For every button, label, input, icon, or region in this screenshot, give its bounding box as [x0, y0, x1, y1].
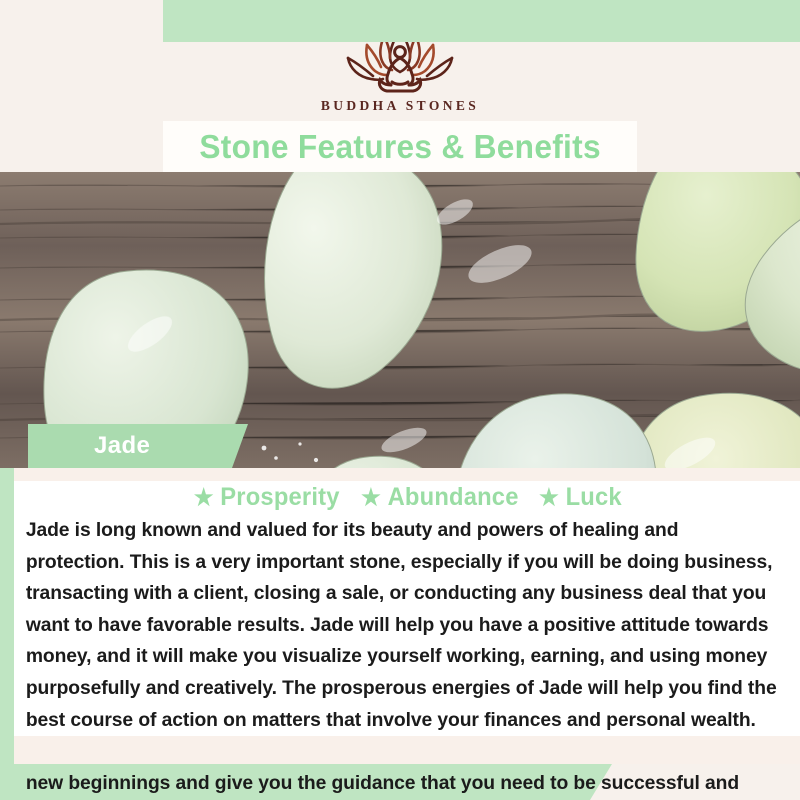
star-icon: ★	[194, 486, 214, 509]
benefit-label: Luck	[566, 483, 622, 512]
benefit-item: ★ Prosperity	[194, 483, 340, 512]
stone-name-badge: Jade	[28, 424, 248, 468]
brand-name: BUDDHA STONES	[0, 98, 800, 114]
decor-green-left-lower	[0, 455, 14, 785]
benefit-item: ★ Abundance	[362, 483, 519, 512]
description-block: Jade is long known and valued for its be…	[14, 511, 800, 764]
benefit-label: Abundance	[388, 483, 519, 512]
page-title: Stone Features & Benefits	[199, 128, 601, 166]
stone-photo	[0, 172, 800, 468]
title-banner: Stone Features & Benefits	[163, 121, 637, 172]
stone-name-label: Jade	[94, 432, 150, 460]
description-bottom-strip	[14, 736, 800, 764]
star-icon: ★	[362, 486, 382, 509]
stone-photo-image	[0, 172, 800, 468]
benefit-item: ★ Luck	[539, 483, 622, 512]
benefit-label: Prosperity	[220, 483, 339, 512]
stone-info-poster: BUDDHA STONES Stone Features & Benefits	[0, 0, 800, 800]
star-icon: ★	[539, 486, 559, 509]
decor-green-top-right	[145, 0, 800, 42]
benefits-row: ★ Prosperity ★ Abundance ★ Luck	[14, 481, 800, 513]
